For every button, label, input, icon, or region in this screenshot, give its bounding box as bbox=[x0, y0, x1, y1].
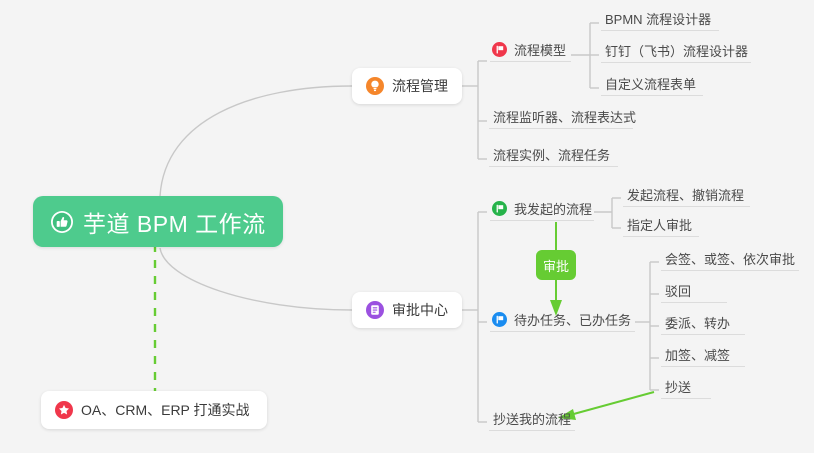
node-cc-to-me-process[interactable]: 抄送我的流程 bbox=[489, 409, 575, 431]
node-label-cc: 抄送 bbox=[665, 377, 691, 396]
node-label-dingtalk-feishu-designer: 钉钉（飞书）流程设计器 bbox=[605, 41, 748, 60]
annotation-tag-approval-label: 审批 bbox=[543, 256, 569, 275]
node-label-start-cancel-process: 发起流程、撤销流程 bbox=[627, 185, 744, 204]
node-reject[interactable]: 驳回 bbox=[661, 281, 727, 303]
node-add-remove-sign[interactable]: 加签、减签 bbox=[661, 345, 745, 367]
node-label-countersign-approval: 会签、或签、依次审批 bbox=[665, 249, 795, 268]
node-custom-process-form[interactable]: 自定义流程表单 bbox=[601, 74, 703, 96]
note-node-integration[interactable]: OA、CRM、ERP 打通实战 bbox=[41, 391, 267, 429]
note-label-integration: OA、CRM、ERP 打通实战 bbox=[81, 400, 250, 420]
clipboard-icon bbox=[366, 301, 384, 319]
node-label-delegate-transfer: 委派、转办 bbox=[665, 313, 730, 332]
mindmap-canvas: 芋道 BPM 工作流 流程管理 流程模型 BPMN 流程设计器 钉钉（飞书）流 bbox=[0, 0, 814, 453]
node-label-assignee-approval: 指定人审批 bbox=[627, 215, 692, 234]
flag-red-icon bbox=[492, 42, 507, 57]
branch-node-approval-center[interactable]: 审批中心 bbox=[352, 292, 462, 328]
node-label-bpmn-designer: BPMN 流程设计器 bbox=[605, 9, 711, 28]
annotation-tag-approval: 审批 bbox=[536, 250, 576, 280]
root-node[interactable]: 芋道 BPM 工作流 bbox=[33, 196, 283, 247]
node-assignee-approval[interactable]: 指定人审批 bbox=[623, 215, 699, 237]
node-delegate-transfer[interactable]: 委派、转办 bbox=[661, 313, 745, 335]
flag-green-icon bbox=[492, 201, 507, 216]
thumbs-up-icon bbox=[51, 211, 73, 233]
branch-label-approval-center: 审批中心 bbox=[392, 300, 448, 320]
node-my-initiated-process[interactable]: 我发起的流程 bbox=[490, 199, 594, 221]
node-dingtalk-feishu-designer[interactable]: 钉钉（飞书）流程设计器 bbox=[601, 41, 751, 63]
branch-node-process-management[interactable]: 流程管理 bbox=[352, 68, 462, 104]
node-todo-done-tasks[interactable]: 待办任务、已办任务 bbox=[490, 310, 635, 332]
node-label-my-initiated-process: 我发起的流程 bbox=[514, 199, 592, 218]
branch-label-process-management: 流程管理 bbox=[392, 76, 448, 96]
node-label-custom-process-form: 自定义流程表单 bbox=[605, 74, 696, 93]
lightbulb-icon bbox=[366, 77, 384, 95]
node-label-process-listener-expression: 流程监听器、流程表达式 bbox=[493, 107, 636, 126]
node-label-add-remove-sign: 加签、减签 bbox=[665, 345, 730, 364]
node-process-model[interactable]: 流程模型 bbox=[490, 40, 571, 62]
node-label-todo-done-tasks: 待办任务、已办任务 bbox=[514, 310, 631, 329]
flag-blue-icon bbox=[492, 312, 507, 327]
node-label-cc-to-me-process: 抄送我的流程 bbox=[493, 409, 571, 428]
node-process-instance-task[interactable]: 流程实例、流程任务 bbox=[489, 145, 618, 167]
node-bpmn-designer[interactable]: BPMN 流程设计器 bbox=[601, 9, 719, 31]
star-icon bbox=[55, 401, 73, 419]
root-label: 芋道 BPM 工作流 bbox=[83, 205, 266, 239]
node-start-cancel-process[interactable]: 发起流程、撤销流程 bbox=[623, 185, 750, 207]
node-label-reject: 驳回 bbox=[665, 281, 691, 300]
node-label-process-instance-task: 流程实例、流程任务 bbox=[493, 145, 610, 164]
node-cc[interactable]: 抄送 bbox=[661, 377, 711, 399]
node-label-process-model: 流程模型 bbox=[514, 40, 566, 59]
node-process-listener-expression[interactable]: 流程监听器、流程表达式 bbox=[489, 107, 633, 129]
node-countersign-approval[interactable]: 会签、或签、依次审批 bbox=[661, 249, 799, 271]
